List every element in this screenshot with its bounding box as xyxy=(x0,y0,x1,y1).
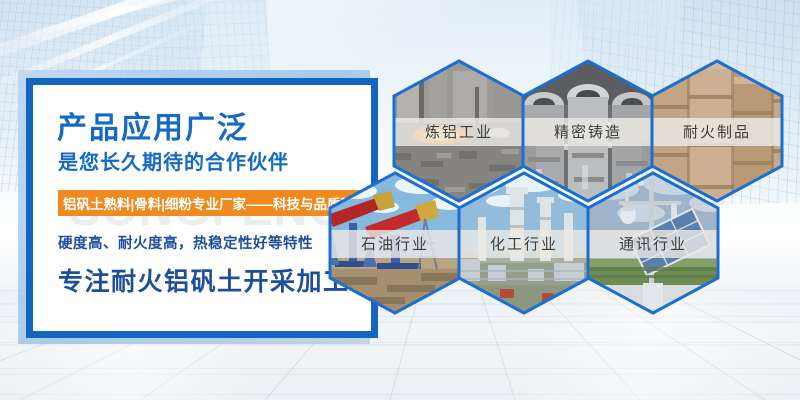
feature-text: 硬度高、耐火度高，热稳定性好等特性 xyxy=(58,232,313,253)
tagline-badge: 铝矾土熟料|骨料|细粉专业厂家——科技与品质同行 xyxy=(58,190,361,216)
hex-label: 炼铝工业 xyxy=(425,124,493,141)
promotional-banner: SONGFENG 产品应用广泛 是您长久期待的合作伙伴 铝矾土熟料|骨料|细粉专… xyxy=(0,0,800,400)
hex-label: 石油行业 xyxy=(361,236,429,253)
hex-label: 耐火制品 xyxy=(683,124,751,141)
hex-label: 精密铸造 xyxy=(554,124,622,141)
page-subtitle: 是您长久期待的合作伙伴 xyxy=(58,146,289,175)
page-title: 产品应用广泛 xyxy=(57,103,249,147)
tagline-text: 铝矾土熟料|骨料|细粉专业厂家——科技与品质同行 xyxy=(58,193,368,213)
hex-label: 通讯行业 xyxy=(619,236,687,253)
focus-headline: 专注耐火铝矾土开采加工 xyxy=(58,262,350,298)
hex-label: 化工行业 xyxy=(490,236,558,253)
